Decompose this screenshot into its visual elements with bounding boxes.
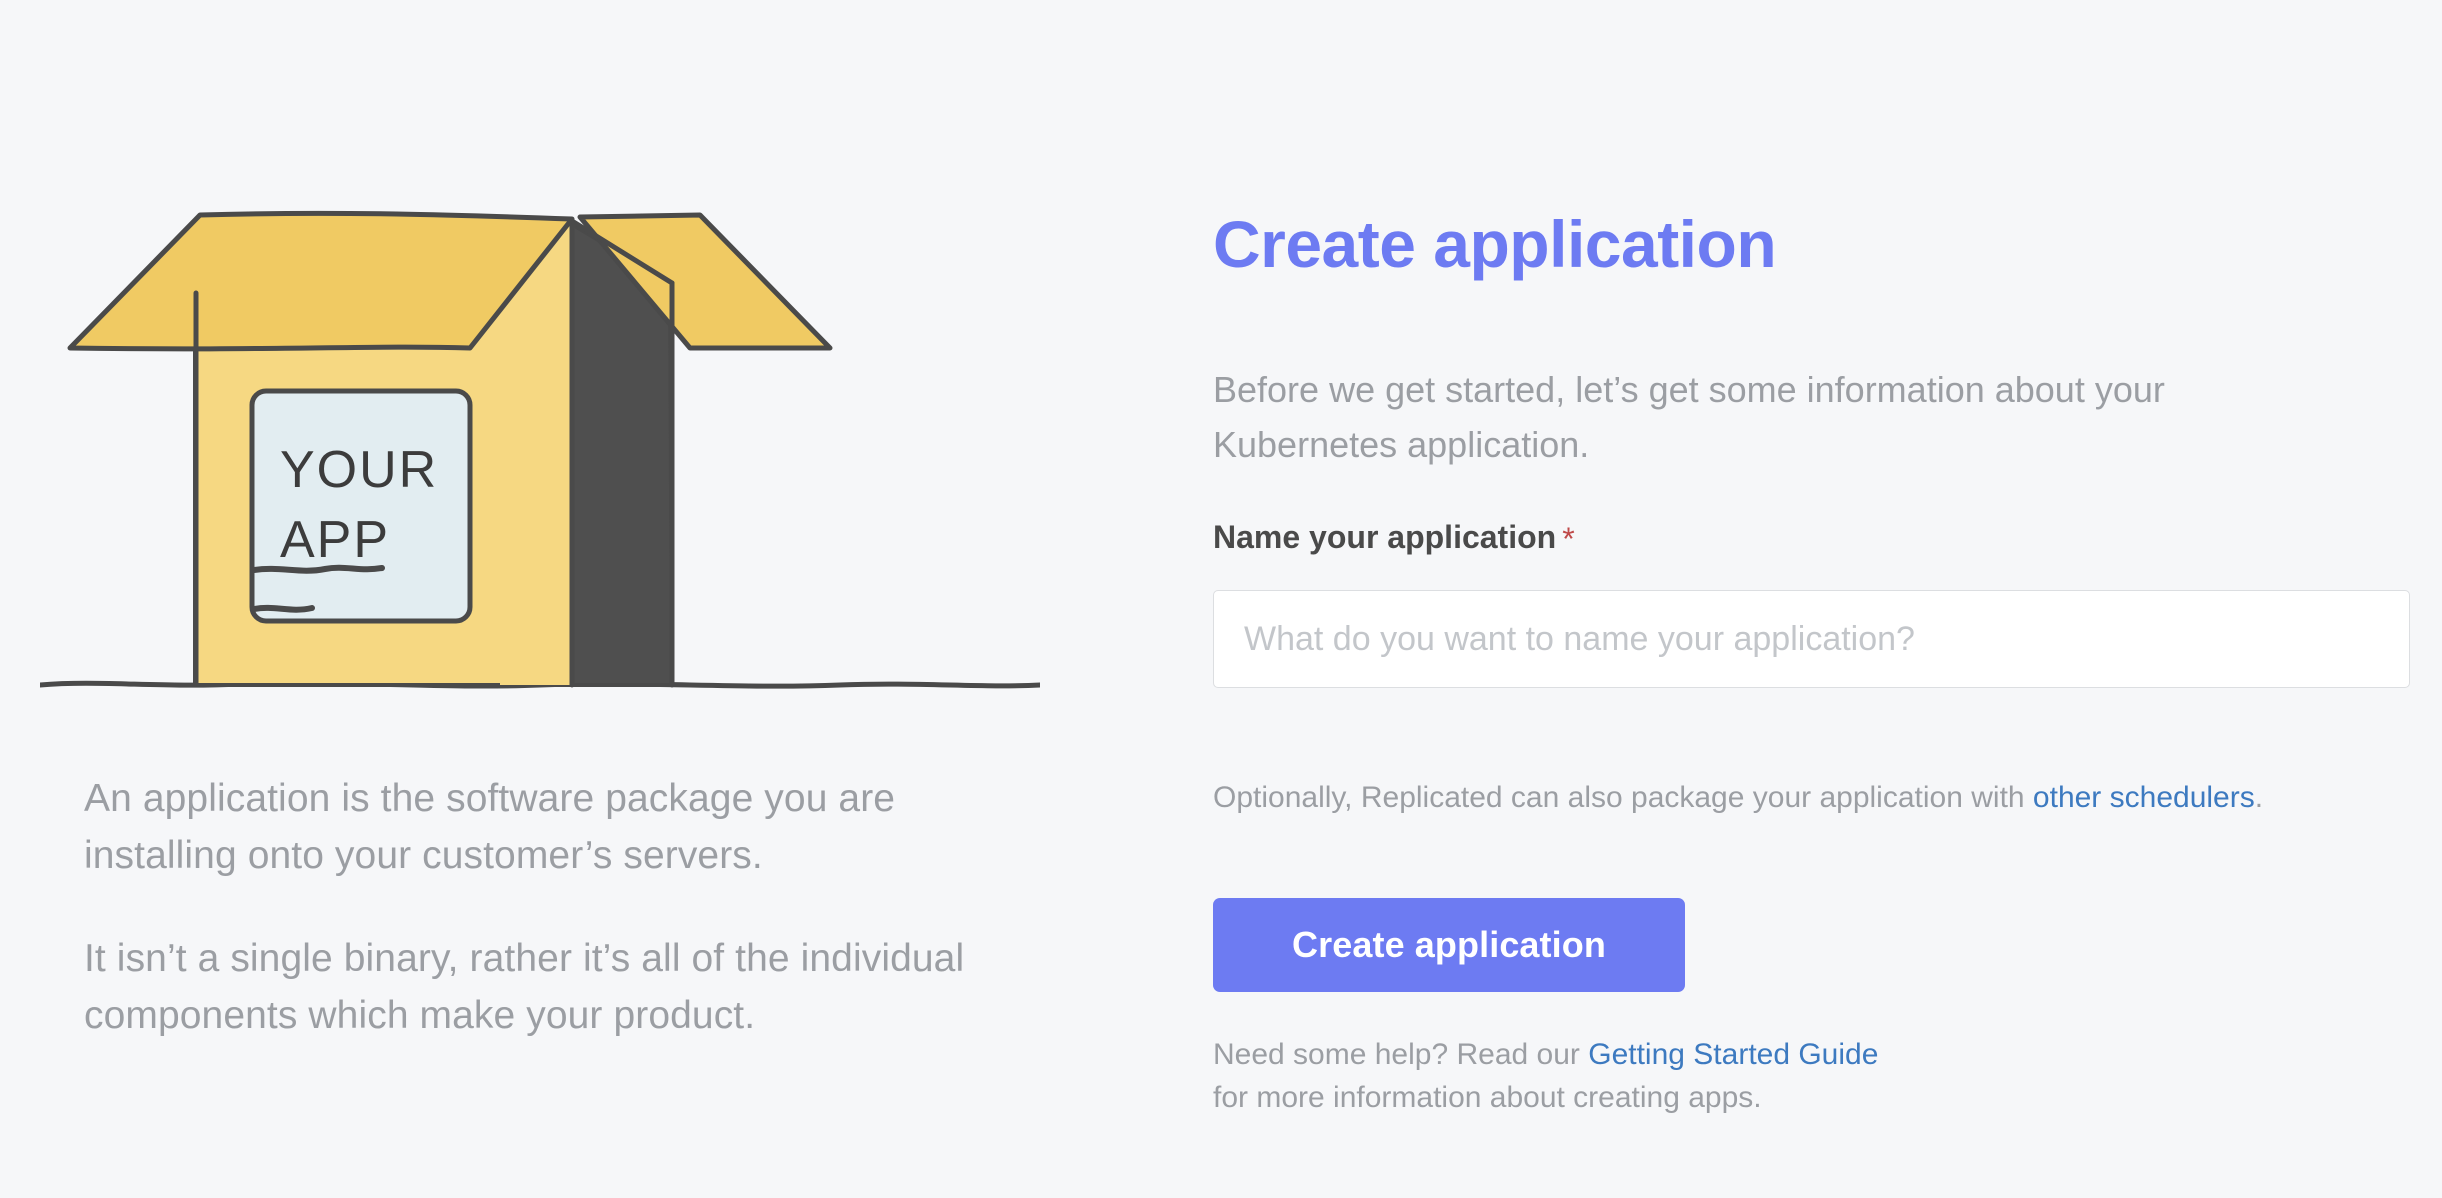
box-label-line-1: YOUR bbox=[280, 441, 438, 499]
box-label-line-2: APP bbox=[280, 511, 390, 569]
left-info-column: YOUR APP An application is the software … bbox=[0, 0, 1090, 1198]
create-application-page: YOUR APP An application is the software … bbox=[0, 0, 2442, 1198]
left-paragraph-2: It isn’t a single binary, rather it’s al… bbox=[84, 930, 1004, 1044]
name-field-label-text: Name your application bbox=[1213, 519, 1556, 555]
your-app-box-illustration: YOUR APP bbox=[40, 185, 1040, 735]
form-subtitle: Before we get started, let’s get some in… bbox=[1213, 362, 2353, 472]
other-schedulers-note-prefix: Optionally, Replicated can also package … bbox=[1213, 781, 2033, 814]
other-schedulers-note-suffix: . bbox=[2255, 781, 2263, 814]
left-description: An application is the software package y… bbox=[84, 770, 1004, 1044]
help-note-suffix: for more information about creating apps… bbox=[1213, 1081, 1762, 1114]
create-application-button[interactable]: Create application bbox=[1213, 898, 1685, 992]
other-schedulers-note: Optionally, Replicated can also package … bbox=[1213, 779, 2263, 817]
left-paragraph-1: An application is the software package y… bbox=[84, 770, 1004, 884]
application-name-input[interactable] bbox=[1213, 590, 2410, 688]
create-application-form: Create application Before we get started… bbox=[1213, 0, 2413, 1198]
help-note-prefix: Need some help? Read our bbox=[1213, 1038, 1588, 1071]
help-note: Need some help? Read our Getting Started… bbox=[1213, 1033, 1878, 1119]
other-schedulers-link[interactable]: other schedulers bbox=[2033, 781, 2255, 814]
name-field-label: Name your application* bbox=[1213, 518, 1575, 556]
page-title: Create application bbox=[1213, 208, 1776, 280]
required-asterisk: * bbox=[1562, 521, 1574, 557]
getting-started-guide-link[interactable]: Getting Started Guide bbox=[1588, 1038, 1878, 1071]
